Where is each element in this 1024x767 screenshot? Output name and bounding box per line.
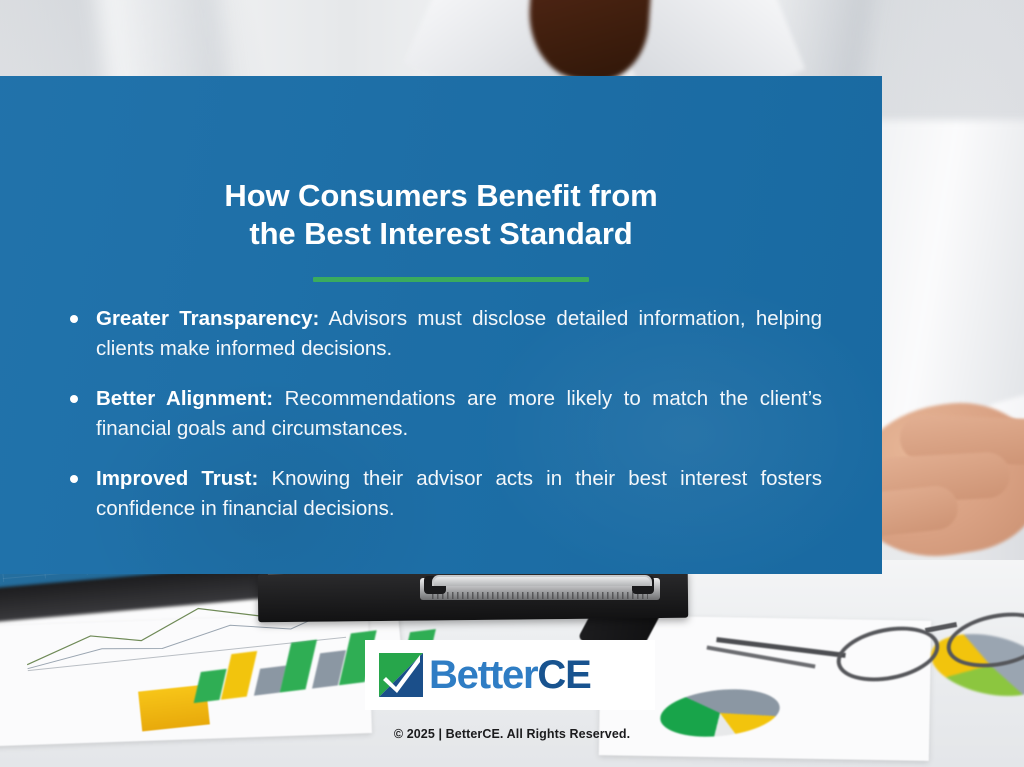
checkmark-square-icon [379, 653, 423, 697]
logo-wordmark: BetterCE [429, 655, 591, 695]
logo-word-better: Better [429, 653, 537, 697]
brand-logo: BetterCE [365, 640, 655, 710]
list-item: Greater Transparency: Advisors must disc… [62, 304, 822, 364]
copyright-notice: © 2025 | BetterCE. All Rights Reserved. [0, 727, 1024, 741]
list-item-lead: Better Alignment: [96, 387, 273, 410]
list-item-lead: Greater Transparency: [96, 307, 319, 330]
list-item-lead: Improved Trust: [96, 467, 258, 490]
logo-word-ce: CE [537, 653, 590, 697]
content-panel: How Consumers Benefit from the Best Inte… [0, 76, 882, 574]
bullet-dot-icon [70, 315, 78, 323]
title-divider [313, 277, 589, 282]
page-title: How Consumers Benefit from the Best Inte… [0, 177, 882, 253]
benefits-list: Greater Transparency: Advisors must disc… [62, 304, 822, 524]
clipboard-clip-handle [432, 575, 652, 586]
infographic-canvas: How Consumers Benefit from the Best Inte… [0, 0, 1024, 767]
bullet-dot-icon [70, 475, 78, 483]
title-line-2: the Best Interest Standard [0, 215, 882, 253]
bullet-dot-icon [70, 395, 78, 403]
title-line-1: How Consumers Benefit from [0, 177, 882, 215]
list-item: Better Alignment: Recommendations are mo… [62, 384, 822, 444]
list-item: Improved Trust: Knowing their advisor ac… [62, 464, 822, 524]
clipboard-clip-teeth [432, 592, 648, 599]
